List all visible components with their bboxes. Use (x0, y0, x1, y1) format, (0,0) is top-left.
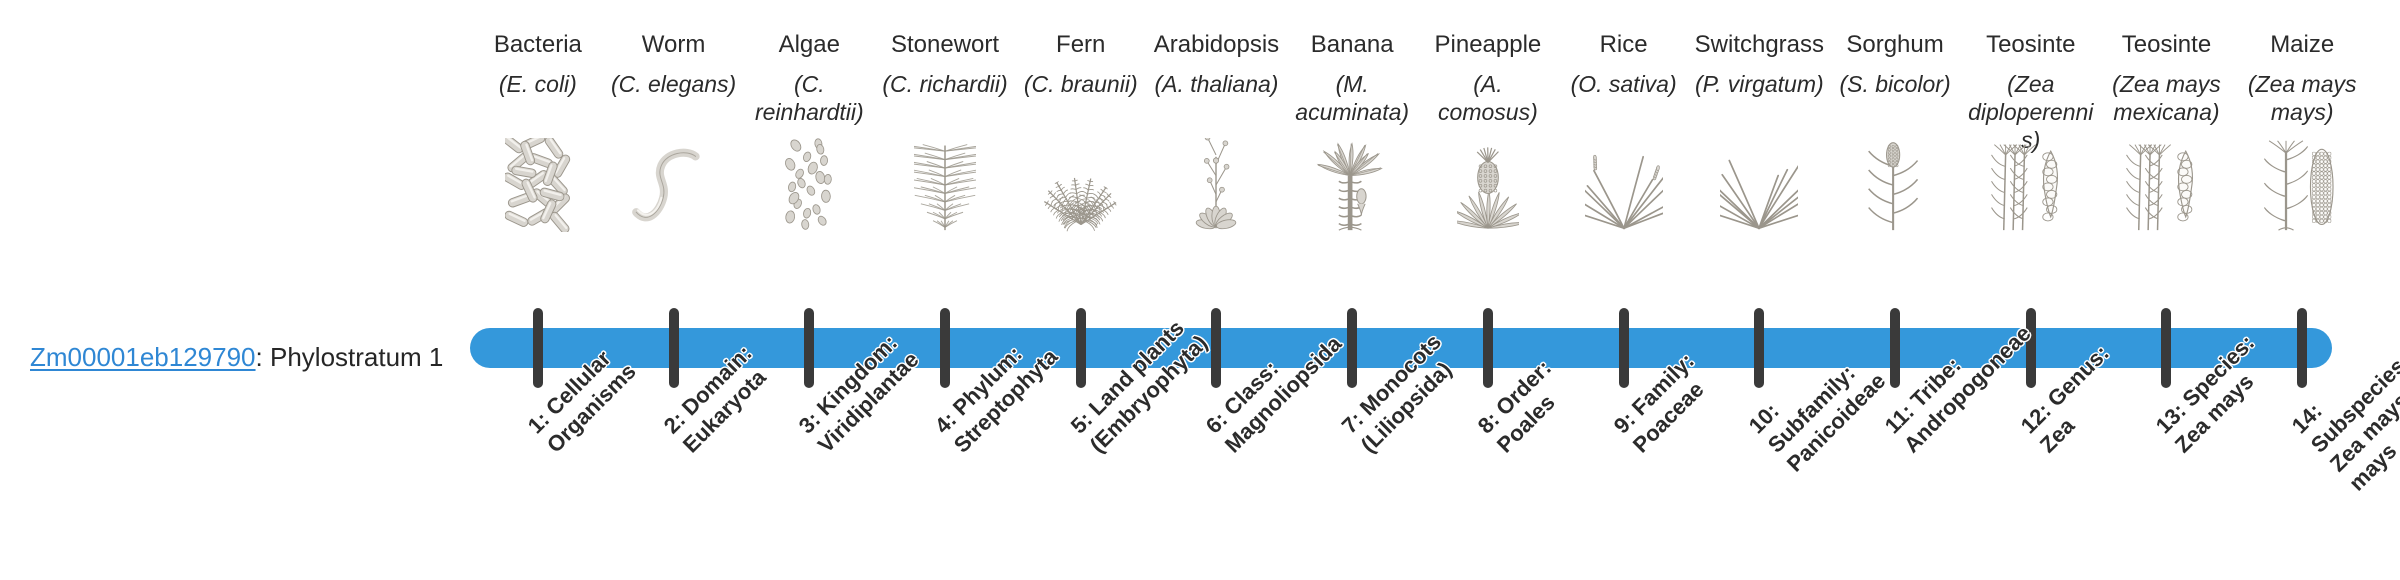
teosinte-diploperennis-icon (1963, 136, 2099, 232)
species-common-name: Rice (1600, 30, 1648, 62)
species-common-name: Teosinte (1986, 30, 2075, 62)
species-common-name: Teosinte (2122, 30, 2211, 62)
arabidopsis-icon (1149, 136, 1285, 232)
species-scientific-name: (C. richardii) (880, 70, 1009, 132)
species-column: Banana(M. acuminata) (1284, 30, 1420, 232)
phylostratum-tick[interactable] (1619, 308, 1629, 388)
phylostratigraphy-figure: Zm00001eb129790: Phylostratum 1 Bacteria… (0, 0, 2400, 580)
species-column: Stonewort(C. richardii) (877, 30, 1013, 232)
species-column: Sorghum(S. bicolor) (1827, 30, 1963, 232)
species-column: Maize(Zea mays mays) (2234, 30, 2370, 232)
species-common-name: Fern (1056, 30, 1105, 62)
species-column: Pineapple(A. comosus) (1420, 30, 1556, 232)
species-scientific-name: (C. elegans) (609, 70, 738, 132)
switchgrass-icon (1691, 136, 1827, 232)
species-column: Switchgrass(P. virgatum) (1691, 30, 1827, 232)
species-scientific-name: (Zea mays mays) (2234, 70, 2370, 132)
phylostratum-tick[interactable] (669, 308, 679, 388)
species-column: Arabidopsis(A. thaliana) (1149, 30, 1285, 232)
maize-icon (2234, 136, 2370, 232)
species-scientific-name: (C. braunii) (1022, 70, 1140, 132)
species-scientific-name: (S. bicolor) (1837, 70, 1952, 132)
species-column: Algae(C. reinhardtii) (741, 30, 877, 232)
species-common-name: Sorghum (1846, 30, 1943, 62)
species-scientific-name: (C. reinhardtii) (741, 70, 877, 132)
phylostratum-tick[interactable] (804, 308, 814, 388)
species-common-name: Worm (642, 30, 706, 62)
bacteria-icon (470, 136, 606, 232)
species-column: Teosinte(Zea mays mexicana) (2099, 30, 2235, 232)
teosinte-mexicana-icon (2099, 136, 2235, 232)
stonewort-icon (877, 136, 1013, 232)
phylostratum-tick[interactable] (2026, 308, 2036, 388)
phylostratum-tick[interactable] (2161, 308, 2171, 388)
species-scientific-name: (Zea mays mexicana) (2099, 70, 2235, 132)
species-scientific-name: (A. comosus) (1420, 70, 1556, 132)
species-scientific-name: (E. coli) (497, 70, 579, 132)
sorghum-icon (1827, 136, 1963, 232)
species-scientific-name: (A. thaliana) (1152, 70, 1280, 132)
species-common-name: Stonewort (891, 30, 999, 62)
species-common-name: Maize (2270, 30, 2334, 62)
species-strip: Bacteria(E. coli)Worm(C. elegans)Algae(C… (470, 30, 2370, 310)
phylostratum-tick[interactable] (1211, 308, 1221, 388)
species-common-name: Algae (779, 30, 840, 62)
rice-icon (1556, 136, 1692, 232)
phylostratum-tick[interactable] (1076, 308, 1086, 388)
gene-id-link[interactable]: Zm00001eb129790 (30, 342, 256, 372)
phylostratum-tick[interactable] (1483, 308, 1493, 388)
fern-icon (1013, 136, 1149, 232)
species-common-name: Bacteria (494, 30, 582, 62)
worm-icon (606, 136, 742, 232)
species-common-name: Arabidopsis (1154, 30, 1279, 62)
species-column: Worm(C. elegans) (606, 30, 742, 232)
phylostratum-tick[interactable] (1754, 308, 1764, 388)
species-common-name: Banana (1311, 30, 1394, 62)
phylostratum-tick[interactable] (940, 308, 950, 388)
phylostratum-tick[interactable] (2297, 308, 2307, 388)
gene-label-separator: : (256, 342, 270, 372)
taxonomy-label-layer: 1: Cellular Organisms2: Domain: Eukaryot… (470, 420, 2370, 580)
gene-phylostratum-label: Zm00001eb129790: Phylostratum 1 (30, 340, 443, 374)
phylostratum-tick[interactable] (1347, 308, 1357, 388)
phylostratum-tick[interactable] (533, 308, 543, 388)
species-column: Bacteria(E. coli) (470, 30, 606, 232)
species-scientific-name: (M. acuminata) (1284, 70, 1420, 132)
pineapple-icon (1420, 136, 1556, 232)
species-scientific-name: (O. sativa) (1569, 70, 1679, 132)
species-column: Rice(O. sativa) (1556, 30, 1692, 232)
banana-icon (1284, 136, 1420, 232)
species-scientific-name: (Zea diploperennis) (1963, 70, 2099, 132)
species-scientific-name: (P. virgatum) (1693, 70, 1826, 132)
algae-icon (741, 136, 877, 232)
species-column: Fern(C. braunii) (1013, 30, 1149, 232)
species-common-name: Switchgrass (1695, 30, 1824, 62)
species-column: Teosinte(Zea diploperennis) (1963, 30, 2099, 232)
species-common-name: Pineapple (1435, 30, 1542, 62)
phylostratum-value: Phylostratum 1 (270, 342, 443, 372)
